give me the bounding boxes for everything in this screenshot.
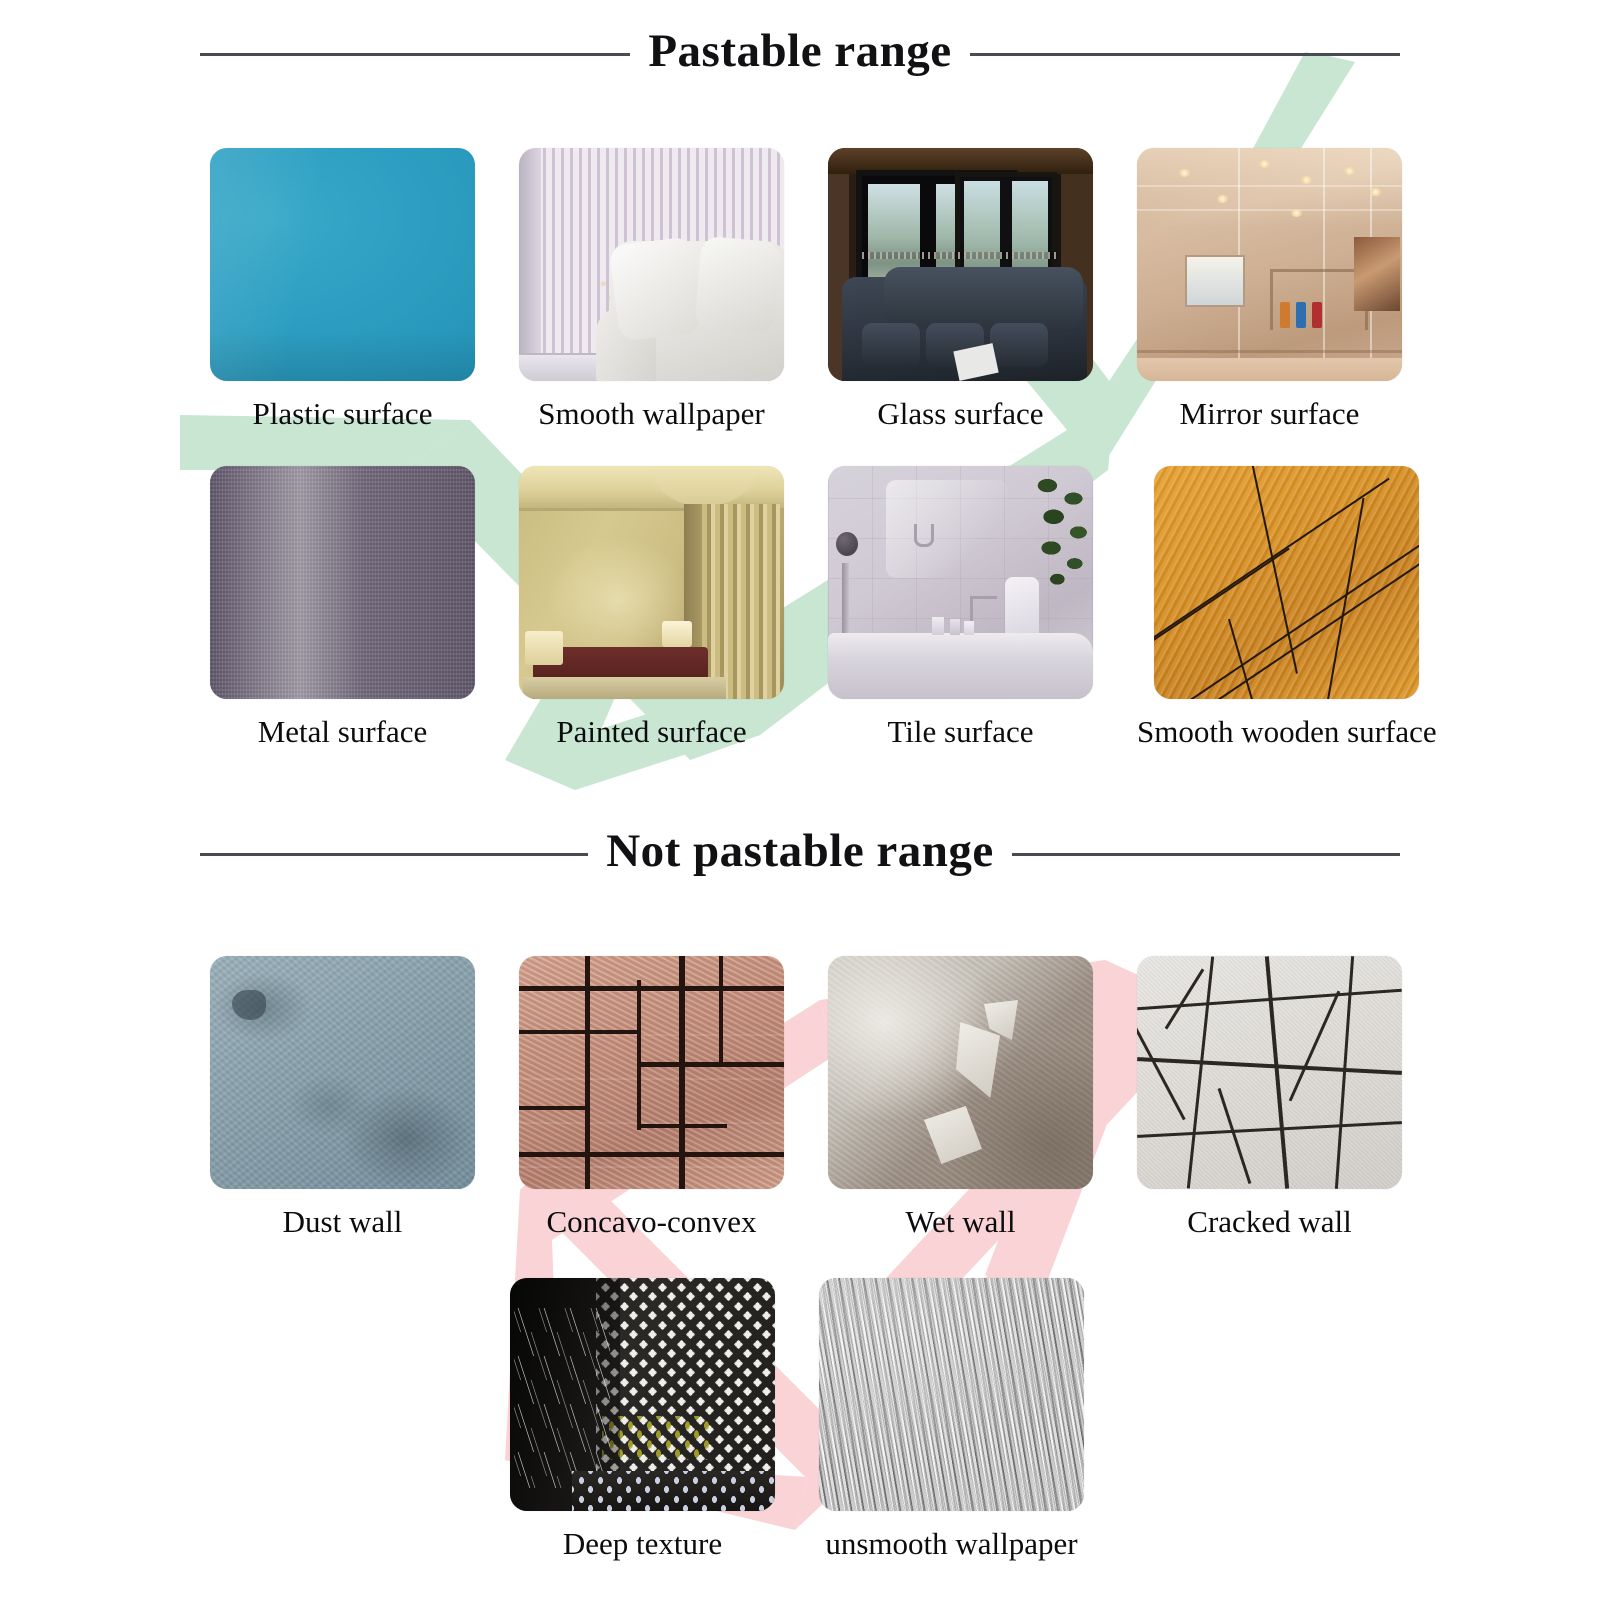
- section-header-not-pastable: Not pastable range: [200, 828, 1400, 881]
- rule-right-2: [1012, 853, 1400, 856]
- tile-smooth-wooden-surface[interactable]: Smooth wooden surface: [1137, 466, 1437, 749]
- thumbnail-plastic-surface[interactable]: [210, 148, 475, 381]
- metal-surface-image: [210, 466, 475, 699]
- not-pastable-row-1: Dust wall Concavo-convex Wet wall: [210, 956, 1402, 1239]
- section-title-not-pastable: Not pastable range: [606, 828, 994, 881]
- concavo-convex-wall-image: [519, 956, 784, 1189]
- tile-surface-image: [828, 466, 1093, 699]
- tile-glass-surface[interactable]: Glass surface: [828, 148, 1093, 431]
- caption-tile-surface: Tile surface: [887, 715, 1033, 749]
- plastic-surface-image: [210, 148, 475, 381]
- unsmooth-wallpaper-image: [819, 1278, 1084, 1511]
- smooth-wooden-surface-image: [1154, 466, 1419, 699]
- caption-painted-surface: Painted surface: [556, 715, 746, 749]
- thumbnail-smooth-wooden-surface[interactable]: [1154, 466, 1419, 699]
- section-header-pastable: Pastable range: [200, 28, 1400, 81]
- glass-surface-image: [828, 148, 1093, 381]
- pastable-row-1: Plastic surface Smooth wallpaper: [210, 148, 1402, 431]
- dust-wall-image: [210, 956, 475, 1189]
- tile-smooth-wallpaper[interactable]: Smooth wallpaper: [519, 148, 784, 431]
- tile-painted-surface[interactable]: Painted surface: [519, 466, 784, 749]
- thumbnail-wet-wall[interactable]: [828, 956, 1093, 1189]
- thumbnail-concavo-convex-wall[interactable]: [519, 956, 784, 1189]
- rule-right: [970, 53, 1400, 56]
- thumbnail-mirror-surface[interactable]: [1137, 148, 1402, 381]
- section-title-pastable: Pastable range: [648, 28, 951, 81]
- wet-wall-image: [828, 956, 1093, 1189]
- caption-dust-wall: Dust wall: [283, 1205, 403, 1239]
- caption-deep-texture-wall: Deep texture: [563, 1527, 722, 1561]
- tile-cracked-wall[interactable]: Cracked wall: [1137, 956, 1402, 1239]
- rule-left: [200, 53, 630, 56]
- tile-unsmooth-wallpaper[interactable]: unsmooth wallpaper: [819, 1278, 1084, 1561]
- tile-metal-surface[interactable]: Metal surface: [210, 466, 475, 749]
- caption-mirror-surface: Mirror surface: [1180, 397, 1360, 431]
- tile-wet-wall[interactable]: Wet wall: [828, 956, 1093, 1239]
- caption-smooth-wallpaper: Smooth wallpaper: [538, 397, 764, 431]
- thumbnail-painted-surface[interactable]: [519, 466, 784, 699]
- tile-deep-texture-wall[interactable]: Deep texture: [510, 1278, 775, 1561]
- tile-concavo-convex-wall[interactable]: Concavo-convex: [519, 956, 784, 1239]
- tile-tile-surface[interactable]: Tile surface: [828, 466, 1093, 749]
- thumbnail-tile-surface[interactable]: [828, 466, 1093, 699]
- thumbnail-glass-surface[interactable]: [828, 148, 1093, 381]
- thumbnail-cracked-wall[interactable]: [1137, 956, 1402, 1189]
- tile-dust-wall[interactable]: Dust wall: [210, 956, 475, 1239]
- thumbnail-smooth-wallpaper[interactable]: [519, 148, 784, 381]
- caption-wet-wall: Wet wall: [905, 1205, 1015, 1239]
- caption-glass-surface: Glass surface: [877, 397, 1043, 431]
- caption-unsmooth-wallpaper: unsmooth wallpaper: [825, 1527, 1077, 1561]
- painted-surface-image: [519, 466, 784, 699]
- rule-left-2: [200, 853, 588, 856]
- thumbnail-unsmooth-wallpaper[interactable]: [819, 1278, 1084, 1511]
- cracked-wall-image: [1137, 956, 1402, 1189]
- tile-mirror-surface[interactable]: Mirror surface: [1137, 148, 1402, 431]
- not-pastable-row-2: Deep texture unsmooth wallpaper: [510, 1278, 1084, 1561]
- caption-smooth-wooden-surface: Smooth wooden surface: [1137, 715, 1437, 749]
- caption-concavo-convex-wall: Concavo-convex: [546, 1205, 756, 1239]
- mirror-surface-image: [1137, 148, 1402, 381]
- thumbnail-metal-surface[interactable]: [210, 466, 475, 699]
- caption-metal-surface: Metal surface: [258, 715, 428, 749]
- tile-plastic-surface[interactable]: Plastic surface: [210, 148, 475, 431]
- smooth-wallpaper-image: [519, 148, 784, 381]
- deep-texture-wall-image: [510, 1278, 775, 1511]
- caption-plastic-surface: Plastic surface: [253, 397, 433, 431]
- pastable-row-2: Metal surface Painted surface: [210, 466, 1437, 749]
- caption-cracked-wall: Cracked wall: [1187, 1205, 1351, 1239]
- thumbnail-deep-texture-wall[interactable]: [510, 1278, 775, 1511]
- thumbnail-dust-wall[interactable]: [210, 956, 475, 1189]
